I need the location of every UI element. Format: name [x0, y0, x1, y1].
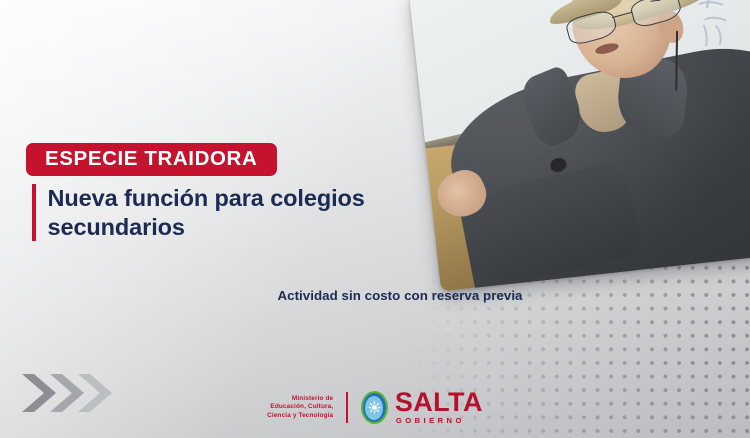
speaker-photo-card [409, 0, 750, 291]
subtitle: Actividad sin costo con reserva previa [0, 288, 750, 303]
glasses-bridge [612, 11, 632, 18]
promo-banner: ESPECIE TRAIDORA Nueva función para cole… [0, 0, 750, 438]
ministry-logo-text: Ministerio de Educación, Cultura, Cienci… [267, 395, 333, 420]
page-title: Nueva función para colegios secundarios [48, 184, 365, 242]
glasses-temple [650, 0, 661, 4]
speaker-photo [409, 0, 750, 291]
headline-accent-bar [32, 184, 36, 241]
salta-emblem-icon [361, 391, 388, 424]
sun-icon [367, 400, 382, 415]
salta-wordmark: SALTA GOBIERNO [395, 389, 483, 426]
footer-logos: Ministerio de Educación, Cultura, Cienci… [0, 389, 750, 426]
headline-block: Nueva función para colegios secundarios [32, 184, 365, 242]
category-badge: ESPECIE TRAIDORA [26, 143, 277, 176]
salta-government-logo: SALTA GOBIERNO [361, 389, 483, 426]
salta-title: SALTA [395, 389, 483, 415]
logo-divider [346, 392, 348, 423]
